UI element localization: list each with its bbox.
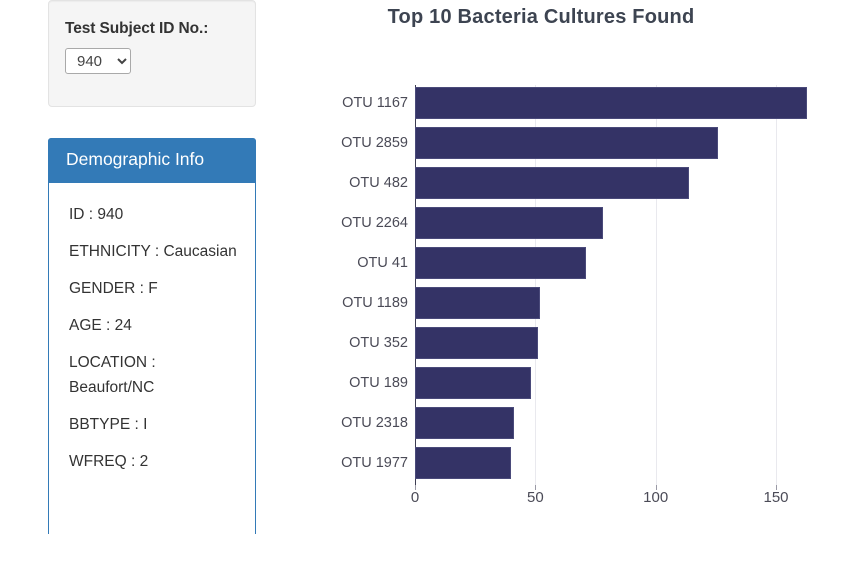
bar-row[interactable]: OTU 2264 bbox=[415, 207, 776, 239]
test-subject-card: Test Subject ID No.: 940 bbox=[48, 0, 256, 107]
list-item: WFREQ : 2 bbox=[49, 443, 255, 480]
chart-plot-area: OTU 1167OTU 2859OTU 482OTU 2264OTU 41OTU… bbox=[415, 85, 776, 485]
left-sidebar: Test Subject ID No.: 940 Demographic Inf… bbox=[48, 0, 256, 107]
list-item: GENDER : F bbox=[49, 270, 255, 307]
bar-category-label: OTU 189 bbox=[349, 367, 408, 399]
list-item: BBTYPE : I bbox=[49, 406, 255, 443]
list-item: ETHNICITY : Caucasian bbox=[49, 233, 255, 270]
bar-category-label: OTU 482 bbox=[349, 167, 408, 199]
demographic-info-panel: Demographic Info ID : 940 ETHNICITY : Ca… bbox=[48, 138, 256, 534]
bar[interactable] bbox=[415, 367, 531, 399]
demographic-info-list: ID : 940 ETHNICITY : Caucasian GENDER : … bbox=[49, 183, 255, 480]
bar[interactable] bbox=[415, 247, 586, 279]
x-tick-label: 50 bbox=[527, 489, 544, 506]
bar-row[interactable]: OTU 2859 bbox=[415, 127, 776, 159]
bar[interactable] bbox=[415, 407, 514, 439]
bar-category-label: OTU 352 bbox=[349, 327, 408, 359]
bar-row[interactable]: OTU 1977 bbox=[415, 447, 776, 479]
list-item: ID : 940 bbox=[49, 196, 255, 233]
list-item: LOCATION : Beaufort/NC bbox=[49, 344, 255, 406]
bar-row[interactable]: OTU 2318 bbox=[415, 407, 776, 439]
bar[interactable] bbox=[415, 127, 718, 159]
bar-row[interactable]: OTU 482 bbox=[415, 167, 776, 199]
bar-category-label: OTU 2264 bbox=[341, 207, 408, 239]
gridline bbox=[776, 85, 777, 485]
bar-row[interactable]: OTU 1167 bbox=[415, 87, 776, 119]
bar[interactable] bbox=[415, 87, 807, 119]
x-tick-label: 0 bbox=[411, 489, 419, 506]
bar[interactable] bbox=[415, 207, 603, 239]
x-tick-label: 100 bbox=[643, 489, 668, 506]
demographic-info-header: Demographic Info bbox=[48, 138, 256, 183]
bar-category-label: OTU 1167 bbox=[342, 87, 408, 119]
bar-category-label: OTU 41 bbox=[357, 247, 408, 279]
bar[interactable] bbox=[415, 287, 540, 319]
bacteria-cultures-chart: Top 10 Bacteria Cultures Found OTU 1167O… bbox=[256, 0, 863, 580]
chart-title: Top 10 Bacteria Cultures Found bbox=[256, 6, 826, 29]
bar-row[interactable]: OTU 1189 bbox=[415, 287, 776, 319]
bar-category-label: OTU 2859 bbox=[341, 127, 408, 159]
bar[interactable] bbox=[415, 327, 538, 359]
bar-category-label: OTU 1977 bbox=[341, 447, 408, 479]
bar-row[interactable]: OTU 352 bbox=[415, 327, 776, 359]
bar-row[interactable]: OTU 189 bbox=[415, 367, 776, 399]
bar-category-label: OTU 1189 bbox=[342, 287, 408, 319]
subject-id-select[interactable]: 940 bbox=[65, 48, 131, 74]
x-tick-label: 150 bbox=[763, 489, 788, 506]
list-item: AGE : 24 bbox=[49, 307, 255, 344]
bar[interactable] bbox=[415, 167, 689, 199]
bar-category-label: OTU 2318 bbox=[341, 407, 408, 439]
test-subject-label: Test Subject ID No.: bbox=[65, 18, 239, 39]
bar-row[interactable]: OTU 41 bbox=[415, 247, 776, 279]
bar[interactable] bbox=[415, 447, 511, 479]
